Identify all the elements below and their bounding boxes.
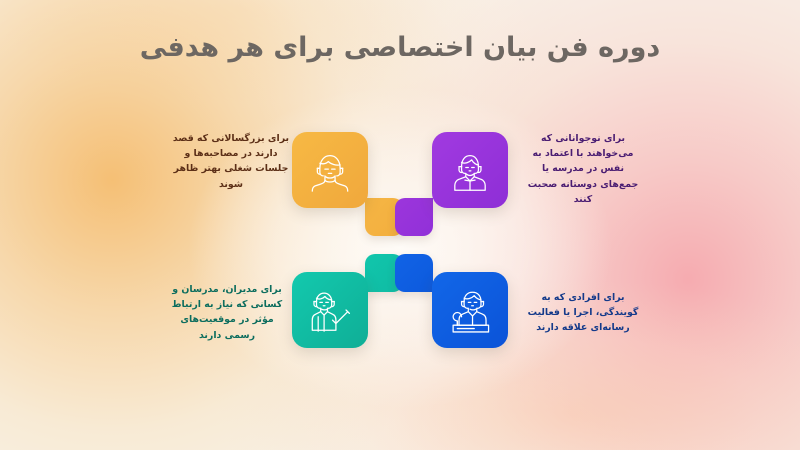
teen-boy-icon [443,143,497,197]
card-connector-media [395,254,433,292]
audience-description-media: برای افرادی که به گویندگی، اجرا یا فعالی… [524,290,642,336]
audience-description-teens: برای نوجوانانی که می‌خواهند با اعتماد به… [524,131,642,207]
adult-man-face-icon [303,143,357,197]
infographic-stage: دوره فن بیان اختصاصی برای هر هدفی برای ب… [0,0,800,450]
card-connector-teens [395,198,433,236]
teacher-pointer-icon [303,283,357,337]
audience-description-adults: برای بزرگسالانی که قصد دارند در مصاحبه‌ه… [172,131,290,192]
audience-card-teens[interactable] [432,132,508,208]
audience-description-managers: برای مدیران، مدرسان و کسانی که نیاز به ا… [168,282,286,343]
audience-card-managers[interactable] [292,272,368,348]
audience-card-adults[interactable] [292,132,368,208]
presenter-podium-microphone-icon [443,283,497,337]
page-title: دوره فن بیان اختصاصی برای هر هدفی [0,32,800,63]
audience-card-cluster [285,120,515,370]
audience-card-media[interactable] [432,272,508,348]
